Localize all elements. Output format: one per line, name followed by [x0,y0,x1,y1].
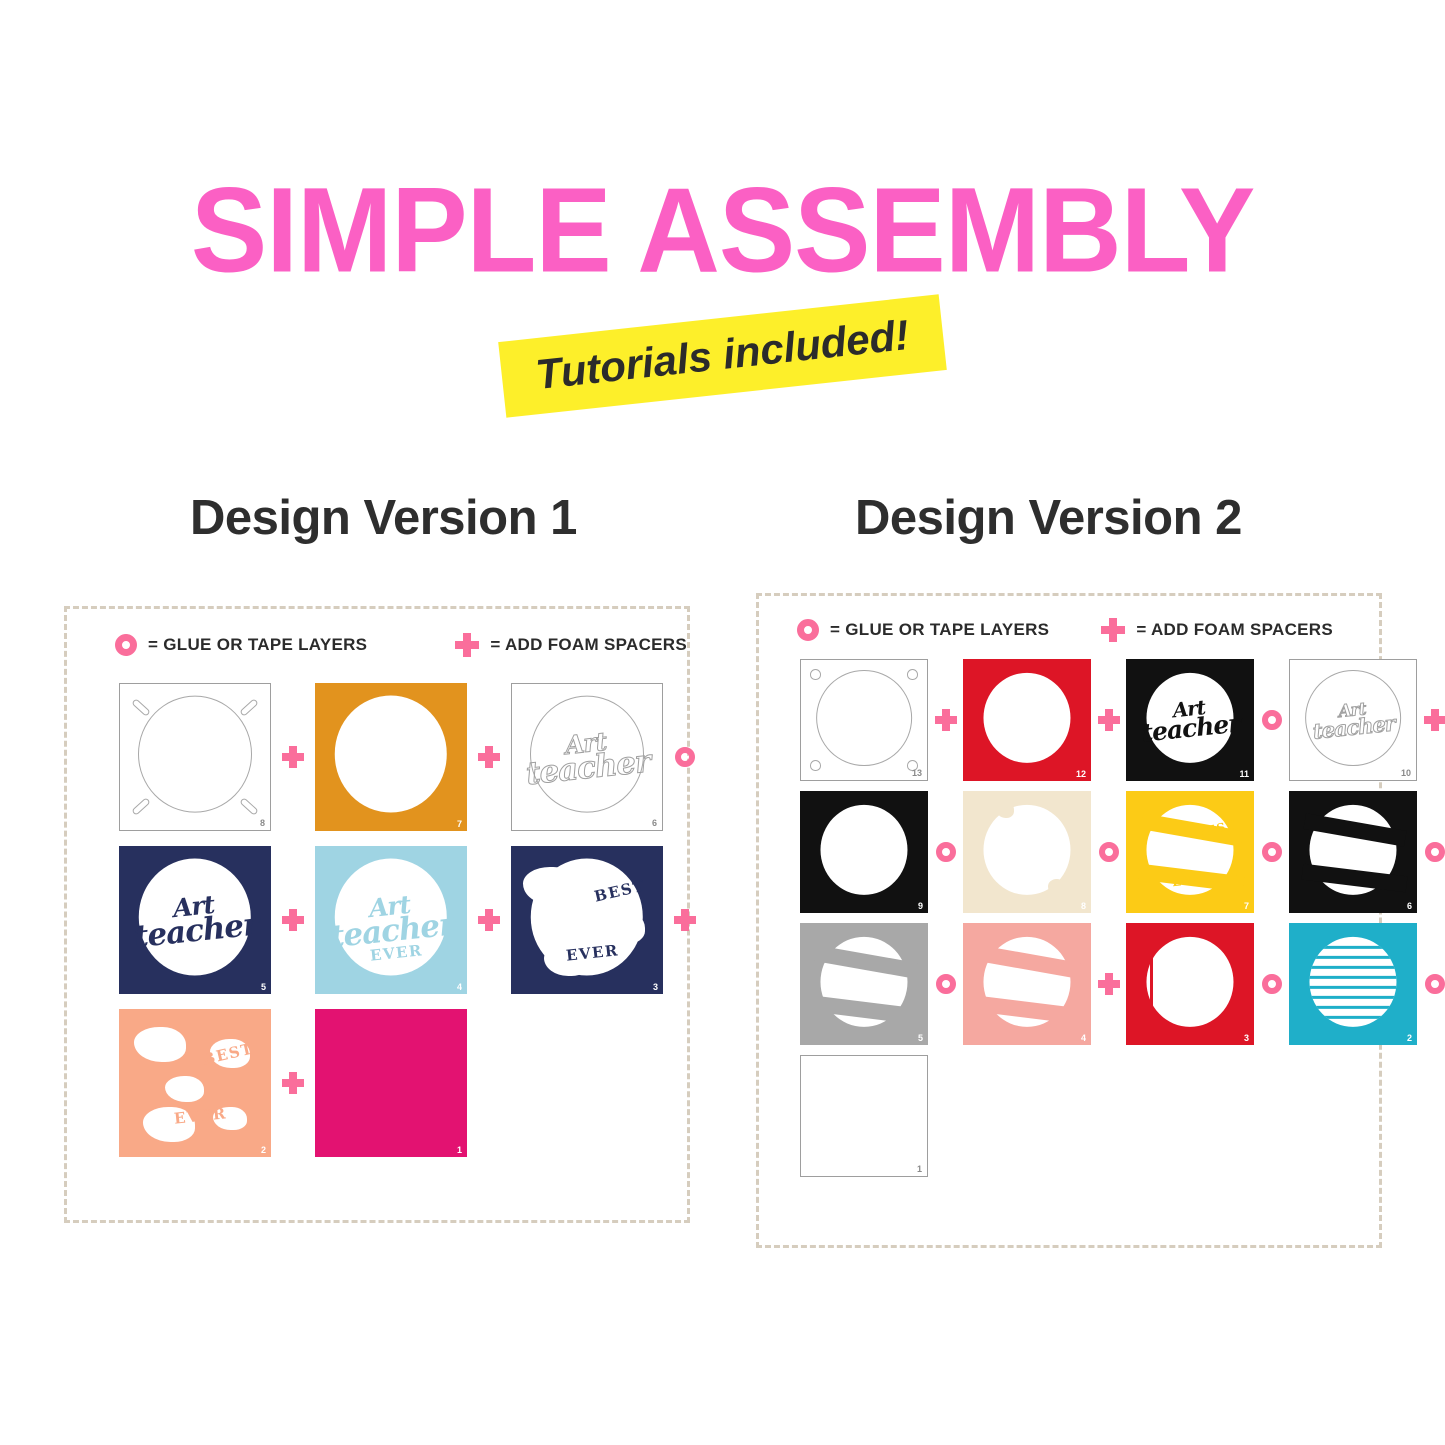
tile-number: 3 [653,983,658,992]
circle-ring-icon [936,842,956,862]
tile-number: 5 [918,1034,923,1043]
tile-row: BEST EVER 2 1 [119,1009,707,1157]
tile-number: 6 [1407,902,1412,911]
circle-ring-icon [1262,710,1282,730]
rule-line [1309,976,1396,979]
tile-7[interactable]: BEST EVER 7 [1126,791,1254,913]
tile-row: 13 12 Art teacher 11 Art [800,659,1445,781]
headline-container: SIMPLE ASSEMBLY [0,176,1445,284]
legend-glue-item: = GLUE OR TAPE LAYERS [797,619,1049,641]
rule-line [1309,1016,1396,1019]
circle-ring-icon [675,747,695,767]
connector-ring [1091,842,1126,862]
tile-number: 8 [260,819,265,828]
tile-number: 9 [918,902,923,911]
rule-line [1309,966,1396,969]
badge-container: Tutorials included! [0,318,1445,394]
tile-row: 1 [800,1055,1445,1177]
circle-cutout-shape [1146,672,1233,762]
tile-4[interactable]: Art teacher EVER 4 [315,846,467,994]
section-title-version-1: Design Version 1 [190,490,577,546]
connector-ring [1417,974,1445,994]
plus-sign-icon [455,633,479,657]
circle-cutout-shape [335,696,447,813]
tile-number: 13 [912,769,922,778]
circle-cutout-shape [1146,936,1233,1026]
tile-number: 8 [1081,902,1086,911]
connector-ring [928,974,963,994]
tutorials-badge: Tutorials included! [498,294,947,417]
tile-4[interactable]: 4 [963,923,1091,1045]
tile-1[interactable]: 1 [800,1055,928,1177]
circle-ring-icon [1262,842,1282,862]
margin-line [1150,940,1153,1028]
legend-version-1: = GLUE OR TAPE LAYERS = ADD FOAM SPACERS [115,633,687,657]
circle-outline-shape [1305,670,1401,766]
tile-13[interactable]: 13 [800,659,928,781]
legend-foam-item: = ADD FOAM SPACERS [455,633,687,657]
tile-6[interactable]: 6 [1289,791,1417,913]
plus-sign-icon [674,909,696,931]
ruled-lines-group [1309,936,1396,1026]
tile-6[interactable]: Art teacher 6 [511,683,663,831]
connector-plus [663,909,707,931]
rule-line [1309,996,1396,999]
tile-number: 1 [917,1165,922,1174]
tile-number: 1 [457,1146,462,1155]
splatter-blob [134,1027,186,1063]
plus-sign-icon [478,746,500,768]
tile-number: 11 [1239,770,1249,779]
circle-ring-icon [936,974,956,994]
tile-number: 2 [1407,1034,1412,1043]
tile-1[interactable]: 1 [315,1009,467,1157]
legend-foam-label: = ADD FOAM SPACERS [1136,620,1333,640]
connector-plus [467,909,511,931]
circle-cutout-shape [139,859,251,976]
legend-version-2: = GLUE OR TAPE LAYERS = ADD FOAM SPACERS [797,618,1333,642]
assembly-board-version-2: = GLUE OR TAPE LAYERS = ADD FOAM SPACERS… [756,593,1382,1248]
connector-plus [1091,973,1126,995]
rule-line [1309,986,1396,989]
connector-plus [271,746,315,768]
apple-icon [907,669,918,680]
paintbrush-icon [131,797,151,816]
splatter-blob [602,911,645,944]
tile-8[interactable]: 8 [119,683,271,831]
circle-cutout-shape [983,672,1070,762]
rule-line [1309,956,1396,959]
connector-plus [1417,709,1445,731]
connector-ring [1254,710,1289,730]
connector-ring [1417,842,1445,862]
plus-sign-icon [282,746,304,768]
legend-glue-item: = GLUE OR TAPE LAYERS [115,634,367,656]
tile-number: 10 [1401,769,1411,778]
connector-ring [1254,842,1289,862]
circle-outline-shape [816,670,912,766]
circle-ring-icon [797,619,819,641]
plus-sign-icon [1424,709,1445,731]
assembly-board-version-1: = GLUE OR TAPE LAYERS = ADD FOAM SPACERS… [64,606,690,1223]
plus-sign-icon [478,909,500,931]
tile-3[interactable]: BEST EVER 3 [511,846,663,994]
tile-5[interactable]: 5 [800,923,928,1045]
tile-number: 7 [457,820,462,829]
circle-ring-icon [115,634,137,656]
tile-5[interactable]: Art teacher 5 [119,846,271,994]
tile-row: 9 8 BEST EVER 7 [800,791,1445,913]
tile-number: 2 [261,1146,266,1155]
splatter-blob [165,1076,205,1103]
circle-ring-icon [1099,842,1119,862]
plus-sign-icon [1098,709,1120,731]
tile-row: 5 4 3 2 [800,923,1445,1045]
plus-sign-icon [1101,618,1125,642]
circle-ring-icon [1425,842,1445,862]
tile-number: 12 [1076,770,1086,779]
tile-number: 4 [1081,1034,1086,1043]
connector-plus [1091,709,1126,731]
connector-ring [928,842,963,862]
connector-plus [271,909,315,931]
circle-ring-icon [1425,974,1445,994]
rule-line [1309,1006,1396,1009]
apple-icon [810,760,821,771]
tile-2[interactable]: BEST EVER 2 [119,1009,271,1157]
connector-plus [467,746,511,768]
legend-glue-label: = GLUE OR TAPE LAYERS [830,620,1049,640]
legend-foam-item: = ADD FOAM SPACERS [1101,618,1333,642]
tile-number: 6 [652,819,657,828]
tile-row: 8 7 Art teacher 6 [119,683,707,831]
splatter-blob [523,867,578,905]
tile-grid-version-2: 13 12 Art teacher 11 Art [800,659,1445,1187]
section-title-version-2: Design Version 2 [855,490,1242,546]
plus-sign-icon [282,909,304,931]
plus-sign-icon [282,1072,304,1094]
connector-plus [271,1072,315,1094]
page-title: SIMPLE ASSEMBLY [191,170,1254,291]
legend-glue-label: = GLUE OR TAPE LAYERS [148,635,367,655]
tile-11[interactable]: Art teacher 11 [1126,659,1254,781]
circle-cutout-shape [820,804,907,894]
apple-icon [810,669,821,680]
legend-foam-label: = ADD FOAM SPACERS [490,635,687,655]
circle-outline-shape [138,696,252,813]
tile-number: 3 [1244,1034,1249,1043]
circle-ring-icon [1262,974,1282,994]
tile-row: Art teacher 5 Art teacher EVER 4 [119,846,707,994]
plus-sign-icon [1098,973,1120,995]
tile-3[interactable]: 3 [1126,923,1254,1045]
circle-outline-shape [530,696,644,813]
tile-10[interactable]: Art teacher 10 [1289,659,1417,781]
notch-shape [996,801,1014,818]
plus-sign-icon [935,709,957,731]
tile-8[interactable]: 8 [963,791,1091,913]
tile-number: 5 [261,983,266,992]
paintbrush-icon [131,698,151,717]
paintbrush-icon [239,698,259,717]
connector-plus [928,709,963,731]
tile-number: 7 [1244,902,1249,911]
tile-7[interactable]: 7 [315,683,467,831]
connector-ring [663,747,707,767]
tile-number: 4 [457,983,462,992]
tile-9[interactable]: 9 [800,791,928,913]
paintbrush-icon [239,797,259,816]
tile-2[interactable]: 2 [1289,923,1417,1045]
tile-grid-version-1: 8 7 Art teacher 6 A [119,683,707,1172]
tile-12[interactable]: 12 [963,659,1091,781]
connector-ring [1254,974,1289,994]
notch-shape [1048,879,1066,896]
rule-line [1309,946,1396,949]
